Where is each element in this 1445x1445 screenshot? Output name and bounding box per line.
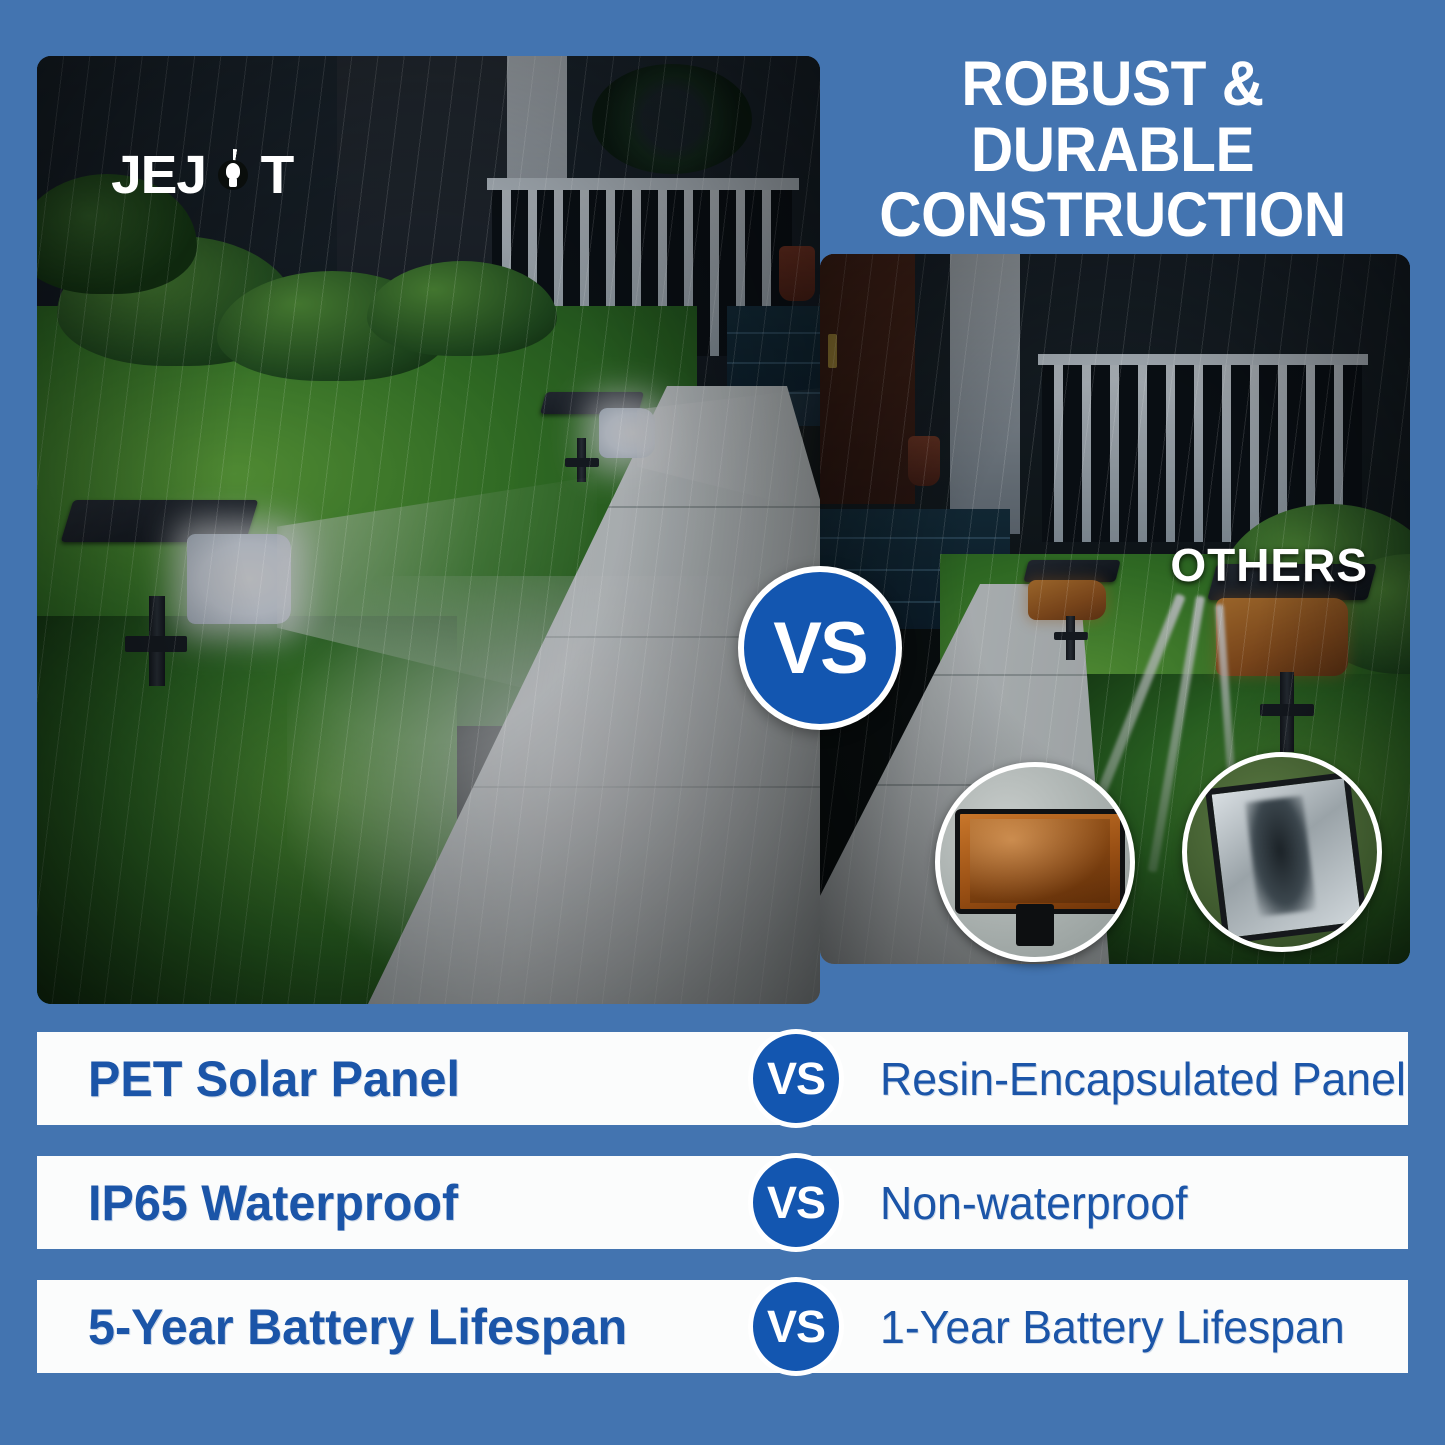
headline-line-2: CONSTRUCTION [822, 183, 1403, 249]
row-theirs-label: Resin-Encapsulated Panel [880, 1032, 1406, 1125]
vs-badge-hero: VS [738, 566, 902, 730]
page-title: ROBUST & DURABLE CONSTRUCTION [822, 52, 1403, 249]
sun-bulb-icon [207, 149, 259, 201]
inset-degraded-panel [1182, 752, 1382, 952]
comparison-table: PET Solar Panel VS Resin-Encapsulated Pa… [0, 1032, 1445, 1404]
others-label: OTHERS [1170, 538, 1368, 592]
rusty-amber-lens [955, 809, 1125, 914]
row-theirs-label: 1-Year Battery Lifespan [880, 1280, 1345, 1373]
row-theirs-label: Non-waterproof [880, 1156, 1188, 1249]
product-photo-ours: JEJ T [37, 56, 820, 1004]
brand-logo: JEJ T [112, 144, 293, 206]
headline-line-1: ROBUST & DURABLE [961, 49, 1263, 185]
comparison-row: PET Solar Panel VS Resin-Encapsulated Pa… [0, 1032, 1445, 1125]
vs-badge-row: VS [748, 1277, 844, 1376]
comparison-row: IP65 Waterproof VS Non-waterproof [0, 1156, 1445, 1249]
lens-mount [1016, 904, 1054, 946]
vs-badge-row: VS [748, 1153, 844, 1252]
inset-rusty-lens [935, 762, 1135, 962]
comparison-row: 5-Year Battery Lifespan VS 1-Year Batter… [0, 1280, 1445, 1373]
vs-badge-row: VS [748, 1029, 844, 1128]
logo-text-b: T [261, 144, 294, 206]
degraded-solar-panel [1205, 772, 1368, 945]
logo-text-a: JEJ [111, 144, 206, 206]
row-ours-label: IP65 Waterproof [88, 1156, 458, 1249]
row-ours-label: PET Solar Panel [88, 1032, 460, 1125]
row-ours-label: 5-Year Battery Lifespan [88, 1280, 627, 1373]
infographic-root: ROBUST & DURABLE CONSTRUCTION [0, 0, 1445, 1445]
